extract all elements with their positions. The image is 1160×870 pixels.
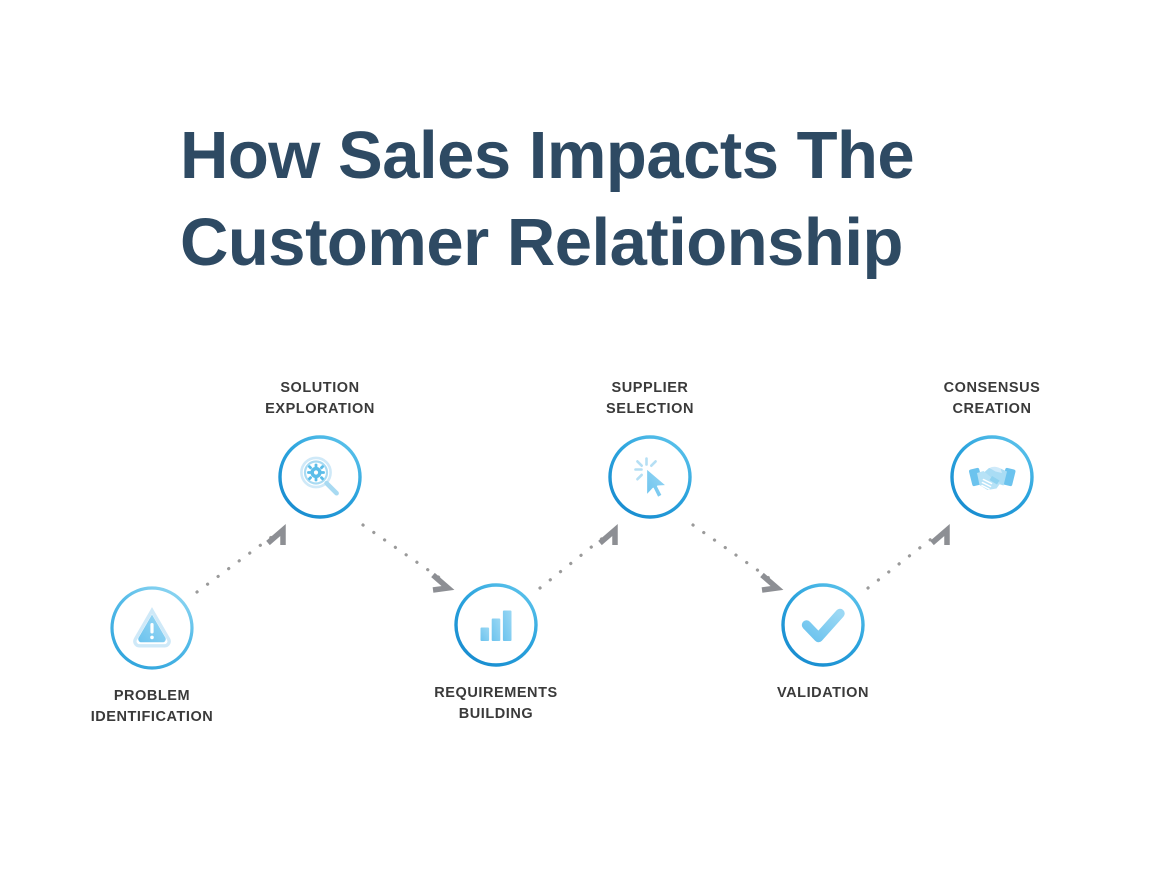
step-4-label: SUPPLIER SELECTION <box>535 378 765 419</box>
step-5-label: VALIDATION <box>708 683 938 704</box>
step-3-label: REQUIREMENTS BUILDING <box>381 683 611 724</box>
magnifier-gear-icon <box>301 458 336 493</box>
bar-chart-icon <box>481 611 512 642</box>
connector-solution-to-requirements <box>363 525 448 590</box>
checkmark-icon <box>807 614 841 638</box>
step-5-ring <box>783 585 863 665</box>
step-problem-identification[interactable]: PROBLEM IDENTIFICATION <box>37 586 267 727</box>
process-flow-diagram: PROBLEM IDENTIFICATION SOLUTION EXPLORAT… <box>0 0 1160 870</box>
step-6-label: CONSENSUS CREATION <box>877 378 1107 419</box>
connector-validation-to-consensus <box>868 530 947 588</box>
connector-problem-to-solution <box>197 530 283 592</box>
step-5-circle[interactable] <box>781 583 865 667</box>
step-2-label: SOLUTION EXPLORATION <box>205 378 435 419</box>
click-cursor-icon <box>636 459 667 498</box>
step-4-circle[interactable] <box>608 435 692 519</box>
step-consensus-creation[interactable]: CONSENSUS CREATION <box>877 378 1107 519</box>
connector-supplier-to-validation <box>693 525 777 590</box>
step-6-circle[interactable] <box>950 435 1034 519</box>
step-2-circle[interactable] <box>278 435 362 519</box>
step-requirements-building[interactable]: REQUIREMENTS BUILDING <box>381 583 611 724</box>
step-1-label: PROBLEM IDENTIFICATION <box>37 686 267 727</box>
step-validation[interactable]: VALIDATION <box>708 583 938 704</box>
handshake-icon <box>969 467 1016 490</box>
step-solution-exploration[interactable]: SOLUTION EXPLORATION <box>205 378 435 519</box>
connector-requirements-to-supplier <box>540 530 615 588</box>
step-supplier-selection[interactable]: SUPPLIER SELECTION <box>535 378 765 519</box>
step-1-circle[interactable] <box>110 586 194 670</box>
warning-triangle-icon <box>135 611 169 646</box>
step-2-ring <box>280 437 360 517</box>
step-3-circle[interactable] <box>454 583 538 667</box>
